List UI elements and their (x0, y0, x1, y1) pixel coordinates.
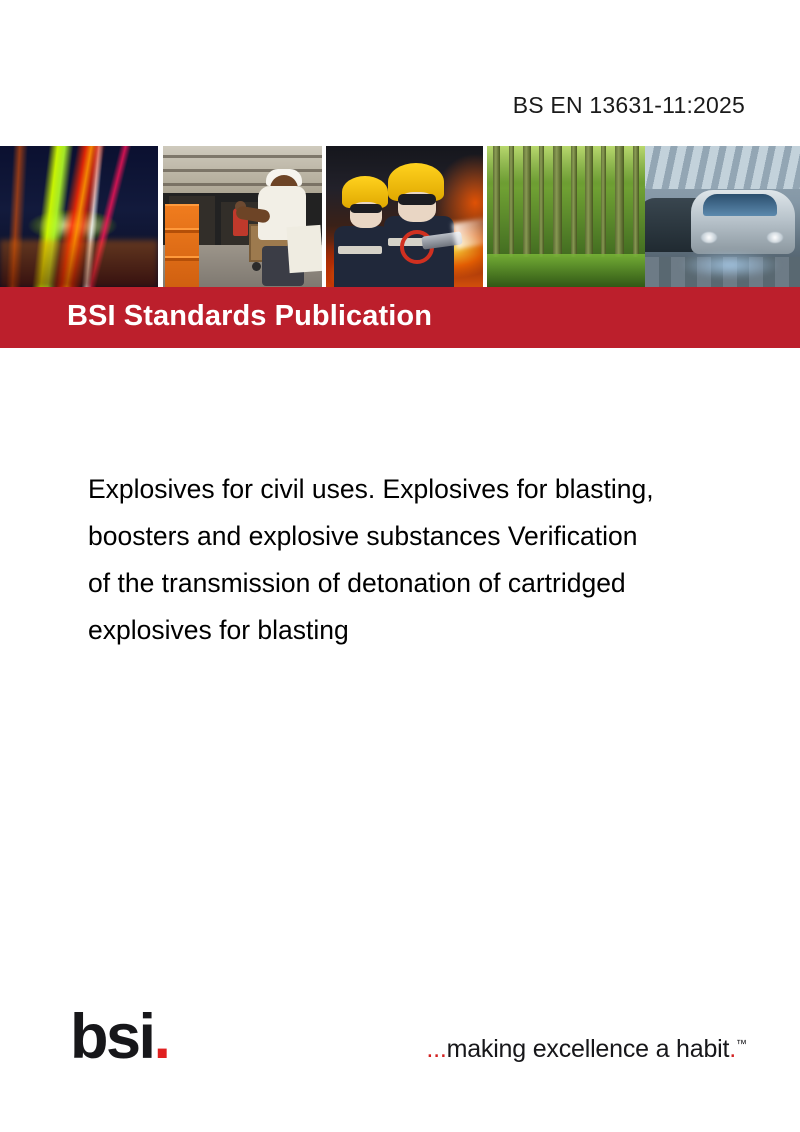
orange-crate (165, 228, 199, 233)
ceiling-beam (163, 155, 322, 158)
bsi-logo: bsi. (70, 1006, 169, 1069)
tree-trunk (509, 146, 514, 257)
firefighter-body (334, 226, 390, 288)
car-headlamp (767, 232, 783, 243)
document-title: Explosives for civil uses. Explosives fo… (88, 466, 788, 654)
bsi-standards-publication-banner: BSI Standards Publication (0, 287, 800, 348)
tree-trunk (601, 146, 606, 257)
title-line-2: boosters and explosive substances Verifi… (88, 513, 788, 560)
tree-trunk (493, 146, 500, 257)
cover-photo-strip (0, 146, 800, 288)
tree-trunk (571, 146, 577, 257)
tagline-dot: . (729, 1035, 736, 1063)
car-headlamp (701, 232, 717, 243)
forest-undergrowth (487, 254, 645, 288)
floor-light-glow (679, 251, 781, 279)
title-line-4: explosives for blasting (88, 607, 788, 654)
tree-trunk (585, 146, 593, 257)
orange-crate (165, 204, 199, 288)
standard-number: BS EN 13631-11:2025 (513, 92, 745, 119)
photo-panel-light-trails-night-traffic (0, 146, 158, 288)
photo-panel-car-assembly-line (645, 146, 800, 288)
tree-trunk (539, 146, 544, 257)
photo-panel-warehouse-worker (163, 146, 322, 288)
factory-ceiling (645, 146, 800, 189)
title-line-1: Explosives for civil uses. Explosives fo… (88, 466, 788, 513)
firefighter-visor (398, 194, 436, 205)
tree-trunk (523, 146, 531, 257)
bsi-logo-wordmark: bsi (70, 1002, 154, 1072)
orange-crate (165, 256, 199, 261)
tree-trunk (633, 146, 639, 257)
bsi-logo-dot: . (154, 1002, 169, 1072)
cart-wheel (252, 262, 261, 271)
water-spray (452, 217, 483, 250)
title-line-3: of the transmission of detonation of car… (88, 560, 788, 607)
tree-trunk (553, 146, 562, 257)
trademark-icon: ™ (736, 1039, 747, 1051)
firefighter-visor (350, 204, 382, 213)
tree-trunk (615, 146, 624, 257)
banner-label: BSI Standards Publication (67, 300, 432, 333)
photo-panel-forest-trees (487, 146, 645, 288)
white-box (286, 225, 322, 273)
photo-panel-firefighters (326, 146, 483, 288)
tagline-text: making excellence a habit (447, 1035, 730, 1063)
car-windshield (703, 194, 777, 216)
tagline-ellipsis: ... (426, 1035, 446, 1063)
bsi-tagline: ...making excellence a habit.™ (426, 1035, 747, 1064)
hi-vis-stripe (338, 246, 382, 254)
